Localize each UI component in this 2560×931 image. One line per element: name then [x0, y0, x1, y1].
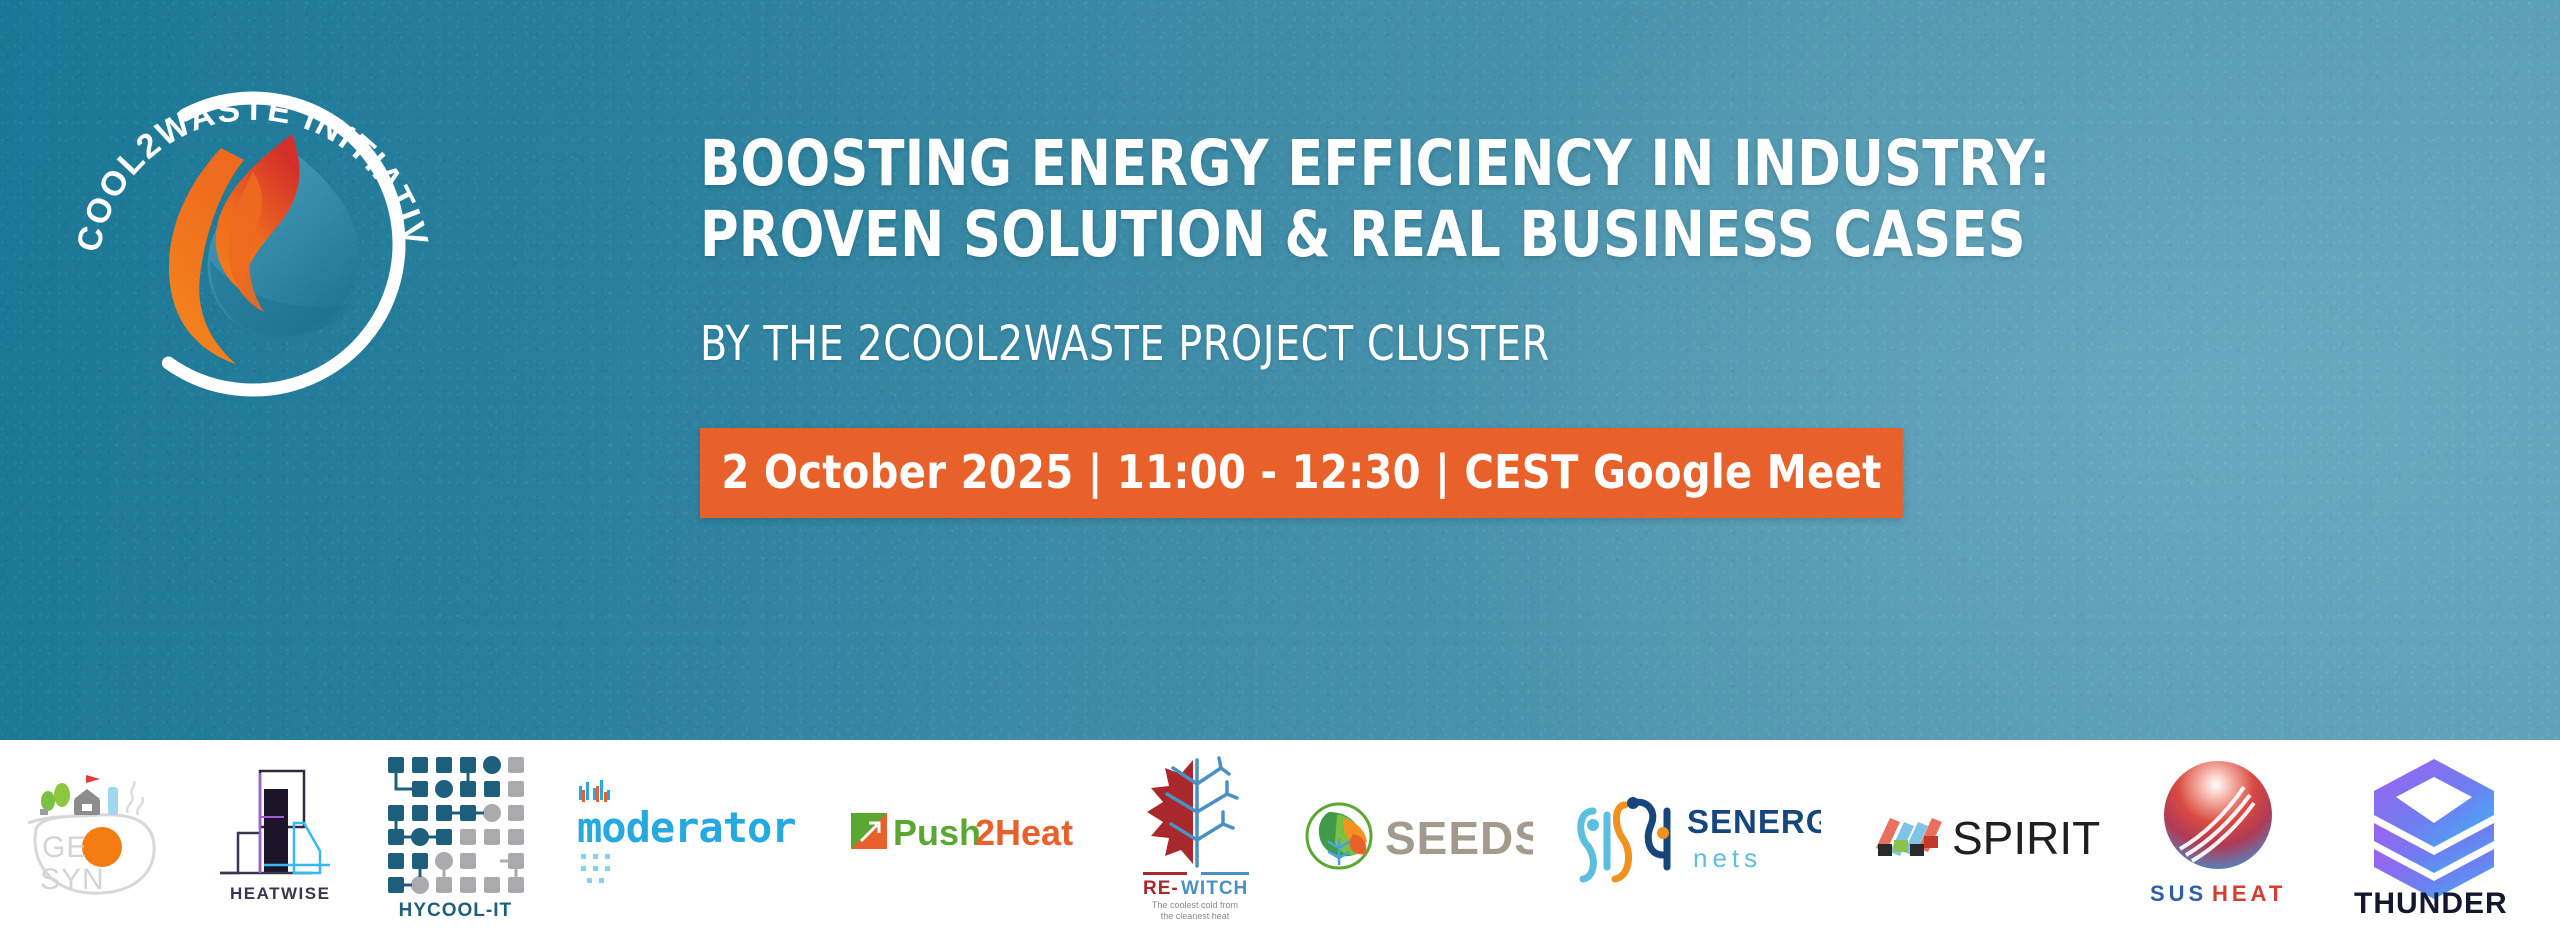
svg-text:moderator: moderator — [577, 803, 796, 852]
svg-text:HEAT: HEAT — [2212, 881, 2286, 906]
svg-text:SENERGY: SENERGY — [1687, 803, 1821, 840]
svg-text:THUNDER: THUNDER — [2354, 887, 2508, 918]
logo-re-witch[interactable]: RE- WITCH The coolest cold from the clea… — [1125, 748, 1265, 923]
svg-text:GE: GE — [42, 831, 87, 864]
svg-text:SEEDS: SEEDS — [1385, 812, 1533, 864]
svg-text:HEATWISE: HEATWISE — [230, 884, 330, 903]
logo-susheat[interactable]: SUS HEAT — [2138, 753, 2298, 918]
logo-spirit[interactable]: SPIRIT — [1860, 796, 2100, 876]
hero-section: 2COOL2WASTE INITIATIVE BOOSTING ENERGY E… — [0, 0, 2560, 740]
logo-heatwise[interactable]: HEATWISE — [212, 761, 342, 911]
svg-text:Push: Push — [893, 812, 981, 853]
heatwise-icon: HEATWISE — [212, 761, 342, 911]
logo-hycool-it[interactable]: HYCOOL-IT — [380, 751, 530, 920]
logo-senergy-nets[interactable]: SENERGY nets — [1571, 781, 1821, 891]
hero-text-block: BOOSTING ENERGY EFFICIENCY IN INDUSTRY: … — [700, 128, 2400, 518]
svg-text:2Heat: 2Heat — [975, 812, 1073, 853]
moderator-icon: moderator — [569, 776, 809, 896]
svg-text:SPIRIT: SPIRIT — [1952, 812, 2100, 864]
hero-subtitle: BY THE 2COOL2WASTE PROJECT CLUSTER — [700, 316, 2264, 372]
logo-geosyn[interactable]: GE SYN — [24, 771, 174, 901]
svg-text:WITCH: WITCH — [1181, 878, 1248, 899]
thunder-icon: THUNDER — [2336, 753, 2536, 918]
hycool-it-wordmark: HYCOOL-IT — [399, 901, 513, 920]
svg-text:the cleanest heat: the cleanest heat — [1161, 911, 1230, 921]
geosyn-icon: GE SYN — [24, 771, 174, 901]
seeds-icon: SEEDS — [1303, 796, 1533, 876]
senergy-nets-icon: SENERGY nets — [1571, 781, 1821, 891]
svg-text:SUS: SUS — [2150, 881, 2207, 906]
svg-text:RE-: RE- — [1143, 878, 1179, 899]
re-witch-icon: RE- WITCH The coolest cold from the clea… — [1125, 748, 1265, 923]
hycool-it-icon — [380, 751, 530, 903]
logo-thunder[interactable]: THUNDER — [2336, 753, 2536, 918]
logo-row: GE SYN — [0, 748, 2560, 923]
event-date-badge: 2 October 2025 | 11:00 - 12:30 | CEST Go… — [700, 428, 1903, 518]
svg-text:SYN: SYN — [40, 863, 105, 896]
partner-logo-bar: GE SYN — [0, 740, 2560, 931]
event-banner: 2COOL2WASTE INITIATIVE BOOSTING ENERGY E… — [0, 0, 2560, 931]
logo-moderator[interactable]: moderator — [569, 776, 809, 896]
hero-title-line1: BOOSTING ENERGY EFFICIENCY IN INDUSTRY: — [700, 128, 2281, 199]
logo-push2heat[interactable]: Push 2Heat — [847, 801, 1087, 871]
initiative-logo-badge: 2COOL2WASTE INITIATIVE — [58, 22, 448, 402]
svg-text:The coolest cold from: The coolest cold from — [1152, 900, 1238, 910]
susheat-icon: SUS HEAT — [2138, 753, 2298, 918]
svg-text:nets: nets — [1693, 843, 1762, 873]
spirit-icon: SPIRIT — [1860, 796, 2100, 876]
hero-title-line2: PROVEN SOLUTION & REAL BUSINESS CASES — [700, 199, 2281, 270]
push2heat-icon: Push 2Heat — [847, 801, 1087, 871]
logo-seeds[interactable]: SEEDS — [1303, 796, 1533, 876]
